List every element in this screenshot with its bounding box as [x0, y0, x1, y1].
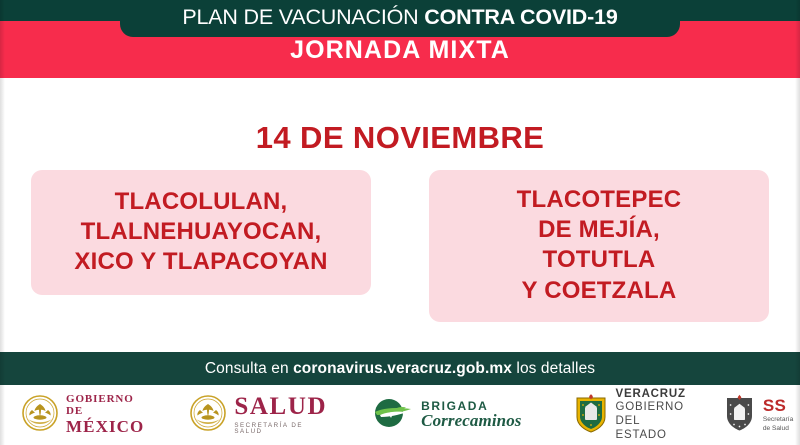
- municipality-line: TLACOLULAN,: [115, 187, 288, 217]
- ss-sub-line2: de Salud: [763, 425, 793, 433]
- ss-sub: Secretaría de Salud: [763, 416, 793, 432]
- municipality-line: DE MEJÍA,: [538, 215, 660, 245]
- poster-title-bold: CONTRA COVID-19: [424, 5, 617, 29]
- ss-text: SS Secretaría de Salud: [763, 397, 793, 432]
- roadrunner-bird-icon: [371, 396, 413, 435]
- right-municipality-box: TLACOTEPEC DE MEJÍA, TOTUTLA Y COETZALA: [429, 170, 769, 322]
- logo-salud: SALUD SECRETARÍA DE SALUD: [190, 385, 327, 445]
- ss-sub-line1: Secretaría: [763, 416, 793, 424]
- gobierno-mexico-line1: GOBIERNO DE: [66, 394, 144, 417]
- mexican-eagle-seal-icon: [22, 395, 58, 436]
- left-municipality-box: TLACOLULAN, TLALNEHUAYOCAN, XICO Y TLAPA…: [31, 170, 371, 295]
- poster-subtitle: JORNADA MIXTA: [0, 38, 800, 63]
- salud-line1: SALUD: [234, 394, 327, 420]
- consulta-suffix: los detalles: [512, 360, 595, 377]
- gobierno-mexico-text: GOBIERNO DE MÉXICO: [66, 394, 144, 436]
- municipality-line: XICO Y TLAPACOYAN: [74, 247, 327, 277]
- consulta-url[interactable]: coronavirus.veracruz.gob.mx: [293, 360, 512, 377]
- logo-veracruz-gobierno: VERACRUZ GOBIERNO DEL ESTADO: [574, 385, 686, 445]
- municipality-line: Y COETZALA: [522, 276, 677, 306]
- logo-ss-sesver: SS Secretaría de Salud SESVER Servicios …: [724, 385, 800, 445]
- brigada-line2: Correcaminos: [421, 412, 521, 430]
- institutional-logo-strip: GOBIERNO DE MÉXICO: [0, 385, 800, 445]
- logo-brigada-correcaminos: BRIGADA Correcaminos: [371, 385, 521, 445]
- municipality-line: TOTUTLA: [543, 245, 656, 275]
- ss-abbr: SS: [763, 397, 793, 414]
- municipality-boxes-row: TLACOLULAN, TLALNEHUAYOCAN, XICO Y TLAPA…: [0, 170, 800, 320]
- municipality-line: TLALNEHUAYOCAN,: [81, 217, 322, 247]
- brigada-text: BRIGADA Correcaminos: [421, 400, 521, 430]
- veracruz-line2: GOBIERNO: [616, 401, 686, 415]
- consulta-footer-bar: Consulta en coronavirus.veracruz.gob.mx …: [0, 352, 800, 385]
- salud-text: SALUD SECRETARÍA DE SALUD: [234, 394, 327, 435]
- logo-gobierno-mexico: GOBIERNO DE MÉXICO: [22, 385, 144, 445]
- poster-body: 14 DE NOVIEMBRE TLACOLULAN, TLALNEHUAYOC…: [0, 78, 800, 352]
- veracruz-shield-icon: [724, 394, 755, 437]
- consulta-text: Consulta en coronavirus.veracruz.gob.mx …: [205, 360, 595, 378]
- gobierno-mexico-line2: MÉXICO: [66, 418, 144, 436]
- veracruz-line3: DEL ESTADO: [616, 415, 686, 442]
- campaign-date: 14 DE NOVIEMBRE: [0, 122, 800, 153]
- poster-title: PLAN DE VACUNACIÓN CONTRA COVID-19: [182, 7, 617, 31]
- municipality-line: TLACOTEPEC: [517, 185, 682, 215]
- vaccination-campaign-poster: PLAN DE VACUNACIÓN CONTRA COVID-19 JORNA…: [0, 0, 800, 445]
- mexican-eagle-seal-icon: [190, 395, 226, 436]
- green-title-tab: PLAN DE VACUNACIÓN CONTRA COVID-19: [120, 0, 680, 37]
- consulta-prefix: Consulta en: [205, 360, 293, 377]
- salud-line2: SECRETARÍA DE SALUD: [234, 423, 327, 436]
- veracruz-line1: VERACRUZ: [616, 388, 686, 402]
- veracruz-text: VERACRUZ GOBIERNO DEL ESTADO: [616, 388, 686, 442]
- veracruz-coat-of-arms-icon: [574, 393, 608, 438]
- poster-header: PLAN DE VACUNACIÓN CONTRA COVID-19 JORNA…: [0, 0, 800, 78]
- poster-title-light: PLAN DE VACUNACIÓN: [182, 5, 424, 29]
